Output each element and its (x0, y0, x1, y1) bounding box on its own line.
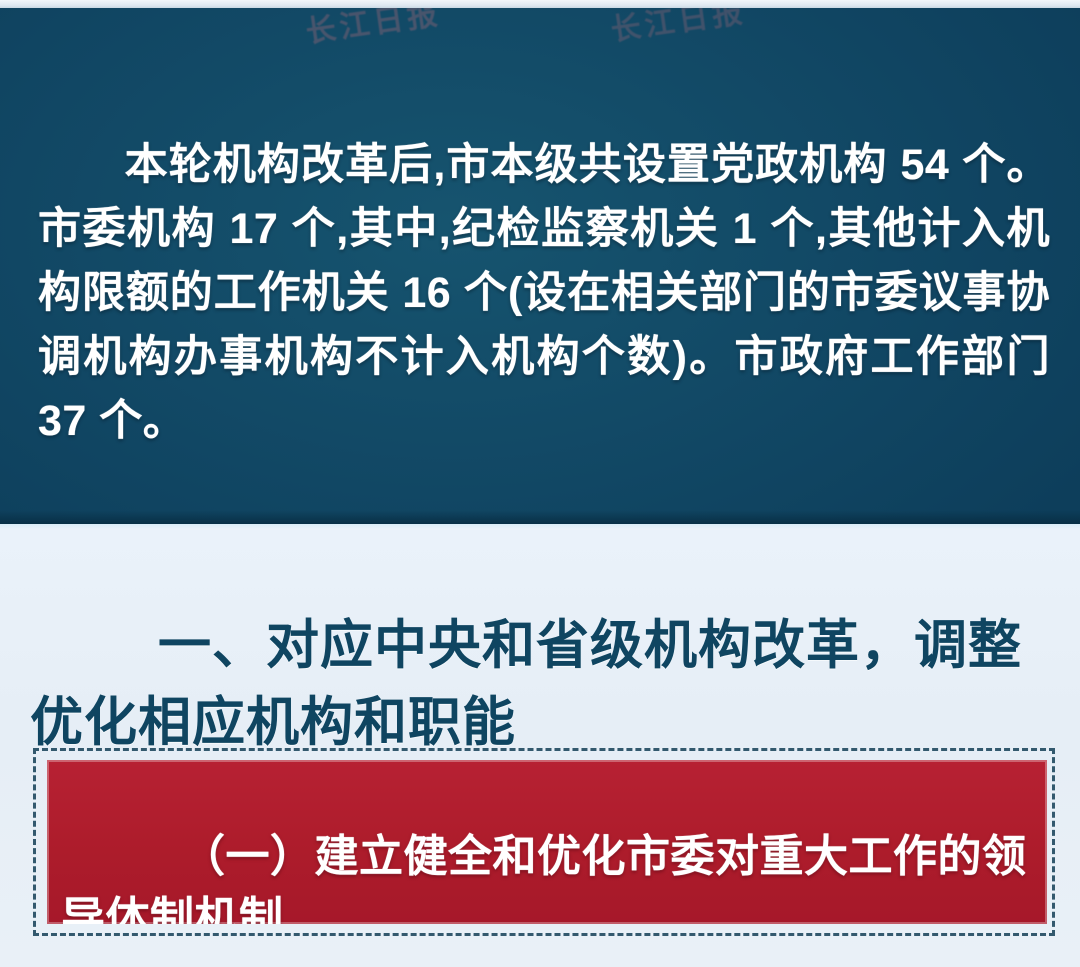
top-edge-strip (0, 0, 1080, 8)
infographic-poster: 长江日报 长江日报 本轮机构改革后,市本级共设置党政机构 54 个。市委机构 1… (0, 0, 1080, 967)
hero-paragraph: 本轮机构改革后,市本级共设置党政机构 54 个。市委机构 17 个,其中,纪检监… (0, 133, 1080, 453)
hero-panel: 长江日报 长江日报 本轮机构改革后,市本级共设置党政机构 54 个。市委机构 1… (0, 8, 1080, 524)
light-panel: 长江日报 长江日报 长江日报 一、对应中央和省级机构改革，调整优化相应机构和职能… (0, 524, 1080, 967)
hero-paragraph-text: 本轮机构改革后,市本级共设置党政机构 54 个。市委机构 17 个,其中,纪检监… (38, 141, 1050, 445)
watermark-logo-icon: 长江日报 (303, 8, 444, 51)
subsection-banner-text-wrapper: （一）建立健全和优化市委对重大工作的领导体制机制 (47, 826, 1047, 924)
section-heading: 一、对应中央和省级机构改革，调整优化相应机构和职能 (30, 608, 1050, 762)
subsection-banner: （一）建立健全和优化市委对重大工作的领导体制机制 (47, 760, 1047, 924)
section-heading-text: 一、对应中央和省级机构改革，调整优化相应机构和职能 (30, 617, 1022, 752)
watermark-logo-icon: 长江日报 (608, 8, 749, 49)
subsection-banner-title: （一）建立健全和优化市委对重大工作的领导体制机制 (61, 832, 1027, 924)
